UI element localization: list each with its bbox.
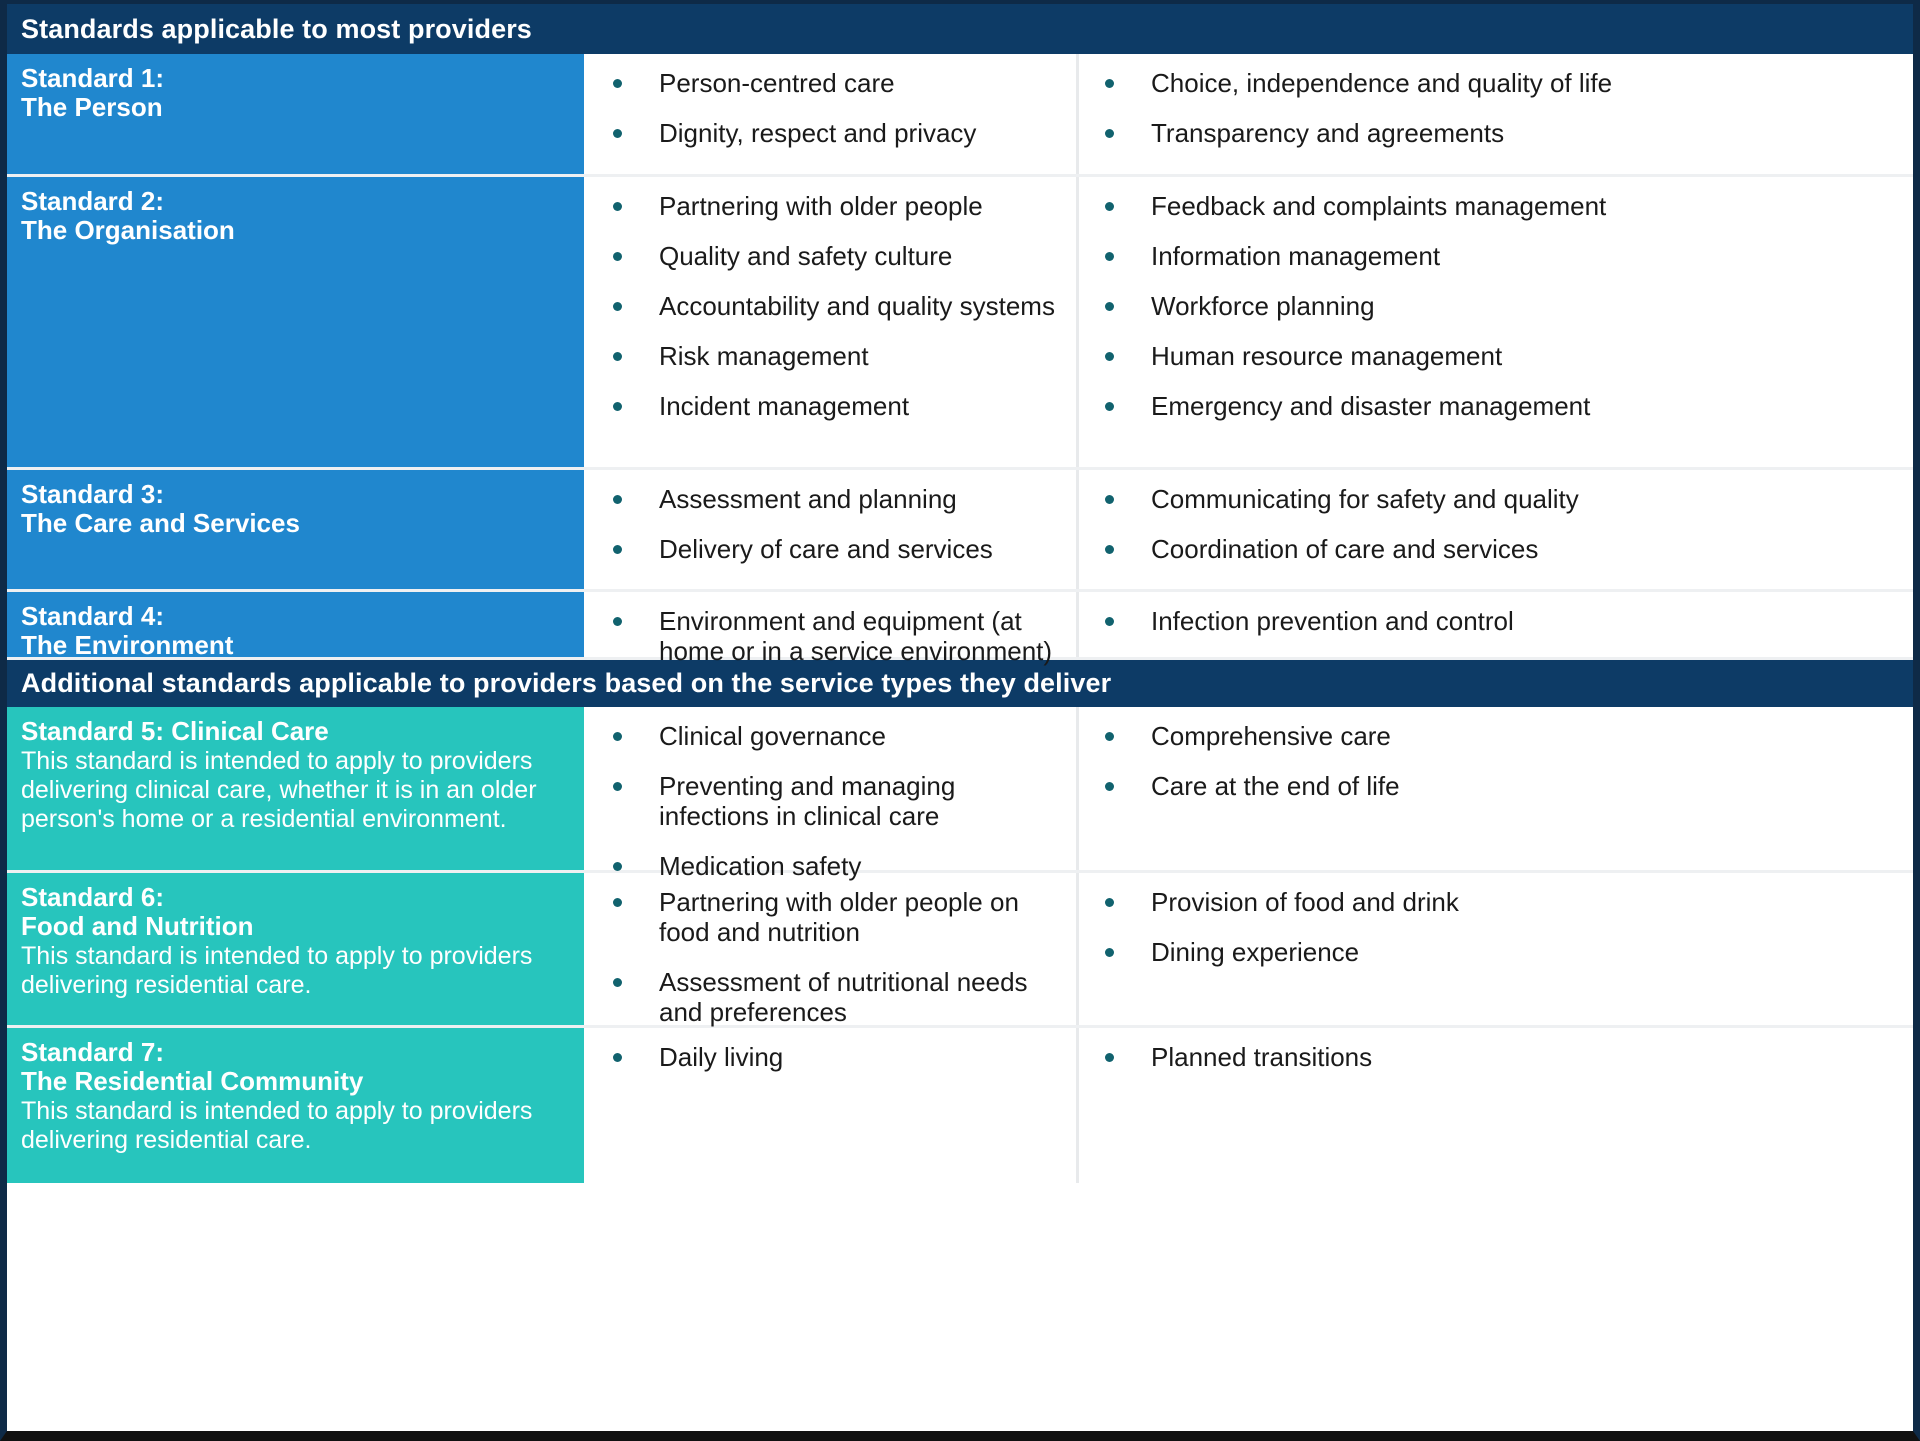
- standard-5-right-list: Comprehensive care Care at the end of li…: [1089, 721, 1903, 801]
- standard-7-middle-list: Daily living: [597, 1042, 1066, 1072]
- list-item: Choice, independence and quality of life: [1089, 68, 1903, 98]
- standard-2-middle-list: Partnering with older people Quality and…: [597, 191, 1066, 421]
- standard-4-title: Standard 4: The Environment: [21, 602, 570, 660]
- standard-2-middle-column: Partnering with older people Quality and…: [587, 177, 1079, 467]
- standard-1-right-column: Choice, independence and quality of life…: [1079, 54, 1913, 174]
- list-item: Feedback and complaints management: [1089, 191, 1903, 221]
- section-banner-label: Standards applicable to most providers: [21, 14, 532, 45]
- standard-5-middle-column: Clinical governance Preventing and manag…: [587, 707, 1079, 870]
- list-item: Care at the end of life: [1089, 771, 1903, 801]
- standard-7-description: This standard is intended to apply to pr…: [21, 1097, 570, 1155]
- list-item: Risk management: [597, 341, 1066, 371]
- standard-2-category-cell: Standard 2: The Organisation: [7, 177, 587, 467]
- standard-6-category-cell: Standard 6: Food and Nutrition This stan…: [7, 873, 587, 1025]
- table-row-standard-4: Standard 4: The Environment Environment …: [7, 592, 1913, 660]
- standard-6-description: This standard is intended to apply to pr…: [21, 942, 570, 1000]
- standard-3-middle-column: Assessment and planning Delivery of care…: [587, 470, 1079, 589]
- standard-6-right-list: Provision of food and drink Dining exper…: [1089, 887, 1903, 967]
- standard-5-right-column: Comprehensive care Care at the end of li…: [1079, 707, 1913, 870]
- section-banner-additional-standards: Additional standards applicable to provi…: [7, 660, 1913, 707]
- list-item: Infection prevention and control: [1089, 606, 1903, 636]
- standard-4-right-list: Infection prevention and control: [1089, 606, 1903, 636]
- list-item: Clinical governance: [597, 721, 1066, 751]
- list-item: Assessment of nutritional needs and pref…: [597, 967, 1066, 1027]
- standard-7-right-column: Planned transitions: [1079, 1028, 1913, 1183]
- list-item: Transparency and agreements: [1089, 118, 1903, 148]
- list-item: Environment and equipment (at home or in…: [597, 606, 1066, 666]
- table-row-standard-1: Standard 1: The Person Person-centred ca…: [7, 54, 1913, 177]
- list-item: Assessment and planning: [597, 484, 1066, 514]
- standard-1-right-list: Choice, independence and quality of life…: [1089, 68, 1903, 148]
- table-row-standard-3: Standard 3: The Care and Services Assess…: [7, 470, 1913, 592]
- list-item: Human resource management: [1089, 341, 1903, 371]
- list-item: Comprehensive care: [1089, 721, 1903, 751]
- standard-4-right-column: Infection prevention and control: [1079, 592, 1913, 657]
- list-item: Partnering with older people on food and…: [597, 887, 1066, 947]
- standard-3-right-column: Communicating for safety and quality Coo…: [1079, 470, 1913, 589]
- list-item: Dignity, respect and privacy: [597, 118, 1066, 148]
- standard-6-middle-list: Partnering with older people on food and…: [597, 887, 1066, 1027]
- list-item: Dining experience: [1089, 937, 1903, 967]
- standard-3-middle-list: Assessment and planning Delivery of care…: [597, 484, 1066, 564]
- standard-5-description: This standard is intended to apply to pr…: [21, 747, 570, 834]
- standard-7-right-list: Planned transitions: [1089, 1042, 1903, 1072]
- standard-3-category-cell: Standard 3: The Care and Services: [7, 470, 587, 589]
- standard-4-middle-column: Environment and equipment (at home or in…: [587, 592, 1079, 657]
- list-item: Delivery of care and services: [597, 534, 1066, 564]
- list-item: Medication safety: [597, 851, 1066, 881]
- list-item: Information management: [1089, 241, 1903, 271]
- list-item: Accountability and quality systems: [597, 291, 1066, 321]
- standard-6-middle-column: Partnering with older people on food and…: [587, 873, 1079, 1025]
- list-item: Partnering with older people: [597, 191, 1066, 221]
- standards-table: Standards applicable to most providers S…: [0, 0, 1920, 1441]
- standard-5-title: Standard 5: Clinical Care: [21, 717, 570, 746]
- standard-2-right-column: Feedback and complaints management Infor…: [1079, 177, 1913, 467]
- standard-2-title: Standard 2: The Organisation: [21, 187, 570, 245]
- standard-5-middle-list: Clinical governance Preventing and manag…: [597, 721, 1066, 881]
- table-row-standard-5: Standard 5: Clinical Care This standard …: [7, 707, 1913, 873]
- standard-2-right-list: Feedback and complaints management Infor…: [1089, 191, 1903, 421]
- section-banner-label: Additional standards applicable to provi…: [21, 668, 1111, 699]
- standard-6-right-column: Provision of food and drink Dining exper…: [1079, 873, 1913, 1025]
- list-item: Person-centred care: [597, 68, 1066, 98]
- list-item: Emergency and disaster management: [1089, 391, 1903, 421]
- list-item: Coordination of care and services: [1089, 534, 1903, 564]
- standard-4-middle-list: Environment and equipment (at home or in…: [597, 606, 1066, 666]
- standard-4-category-cell: Standard 4: The Environment: [7, 592, 587, 657]
- list-item: Communicating for safety and quality: [1089, 484, 1903, 514]
- standard-7-middle-column: Daily living: [587, 1028, 1079, 1183]
- standard-3-right-list: Communicating for safety and quality Coo…: [1089, 484, 1903, 564]
- standard-7-category-cell: Standard 7: The Residential Community Th…: [7, 1028, 587, 1183]
- list-item: Incident management: [597, 391, 1066, 421]
- list-item: Preventing and managing infections in cl…: [597, 771, 1066, 831]
- standard-1-middle-list: Person-centred care Dignity, respect and…: [597, 68, 1066, 148]
- standard-7-title: Standard 7: The Residential Community: [21, 1038, 570, 1096]
- standard-1-middle-column: Person-centred care Dignity, respect and…: [587, 54, 1079, 174]
- table-row-standard-2: Standard 2: The Organisation Partnering …: [7, 177, 1913, 470]
- list-item: Planned transitions: [1089, 1042, 1903, 1072]
- table-row-standard-6: Standard 6: Food and Nutrition This stan…: [7, 873, 1913, 1028]
- list-item: Provision of food and drink: [1089, 887, 1903, 917]
- standard-6-title: Standard 6: Food and Nutrition: [21, 883, 570, 941]
- standard-5-category-cell: Standard 5: Clinical Care This standard …: [7, 707, 587, 870]
- list-item: Daily living: [597, 1042, 1066, 1072]
- list-item: Quality and safety culture: [597, 241, 1066, 271]
- standard-1-category-cell: Standard 1: The Person: [7, 54, 587, 174]
- section-banner-most-providers: Standards applicable to most providers: [7, 4, 1913, 54]
- standard-1-title: Standard 1: The Person: [21, 64, 570, 122]
- list-item: Workforce planning: [1089, 291, 1903, 321]
- standard-3-title: Standard 3: The Care and Services: [21, 480, 570, 538]
- table-row-standard-7: Standard 7: The Residential Community Th…: [7, 1028, 1913, 1183]
